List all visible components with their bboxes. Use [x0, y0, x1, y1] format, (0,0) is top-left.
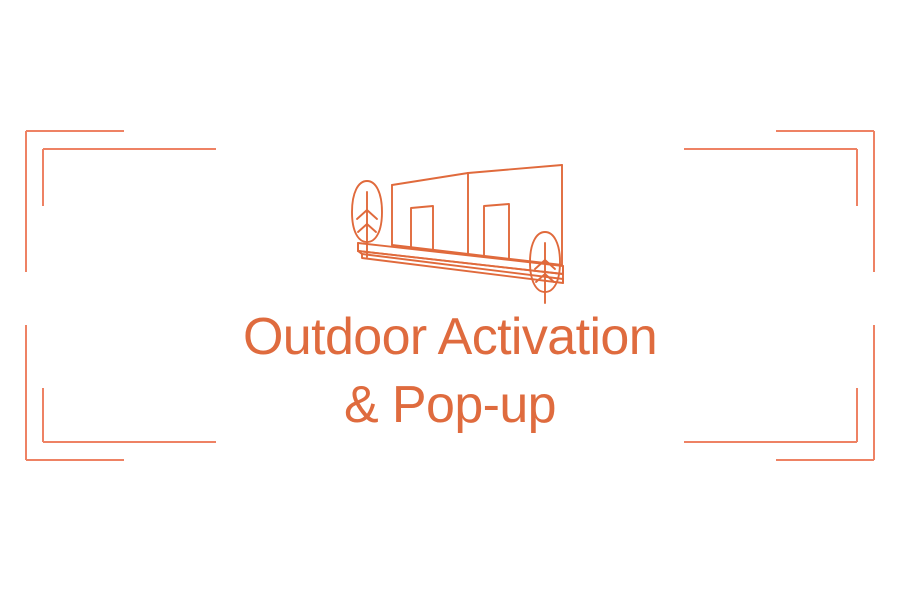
- bracket-top-left-inner: [43, 149, 216, 206]
- bracket-top-left-outer: [26, 131, 124, 272]
- slide-canvas: Outdoor Activation & Pop-up: [0, 0, 900, 600]
- outdoor-pop-up-scene-illustration: [320, 140, 590, 305]
- page-title-line-2: & Pop-up: [0, 371, 900, 439]
- doorway-left-icon: [411, 206, 433, 251]
- bracket-top-right-outer: [776, 131, 874, 272]
- doorway-right-icon: [484, 204, 509, 259]
- page-title-line-1: Outdoor Activation: [0, 303, 900, 371]
- page-title: Outdoor Activation & Pop-up: [0, 303, 900, 439]
- bracket-top-right-inner: [684, 149, 857, 206]
- tree-right-icon: [530, 232, 560, 303]
